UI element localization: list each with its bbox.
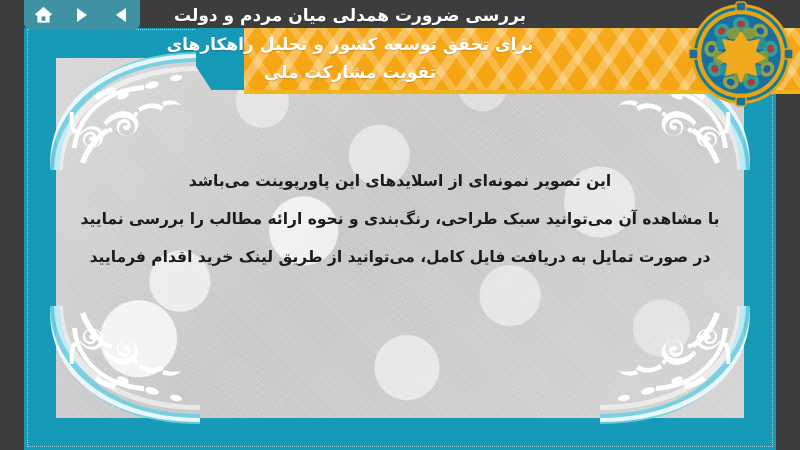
next-slide-button[interactable] bbox=[67, 3, 97, 27]
slide-canvas: این تصویر نمونه‌ای از اسلایدهای این پاور… bbox=[24, 26, 776, 450]
presentation-viewer: این تصویر نمونه‌ای از اسلایدهای این پاور… bbox=[0, 0, 800, 450]
home-button[interactable] bbox=[28, 3, 58, 27]
viewer-navigation-bar bbox=[24, 0, 140, 30]
body-line-1: این تصویر نمونه‌ای از اسلایدهای این پاور… bbox=[64, 162, 736, 200]
slide-body-text: این تصویر نمونه‌ای از اسلایدهای این پاور… bbox=[64, 162, 736, 276]
back-triangle-icon bbox=[114, 7, 128, 23]
body-line-3: در صورت تمایل به دریافت فایل کامل، می‌تو… bbox=[64, 238, 736, 276]
home-icon bbox=[34, 6, 53, 24]
forward-triangle-icon bbox=[75, 7, 89, 23]
previous-slide-button[interactable] bbox=[106, 3, 136, 27]
body-line-2: با مشاهده آن می‌توانید سبک طراحی، رنگ‌بن… bbox=[64, 200, 736, 238]
